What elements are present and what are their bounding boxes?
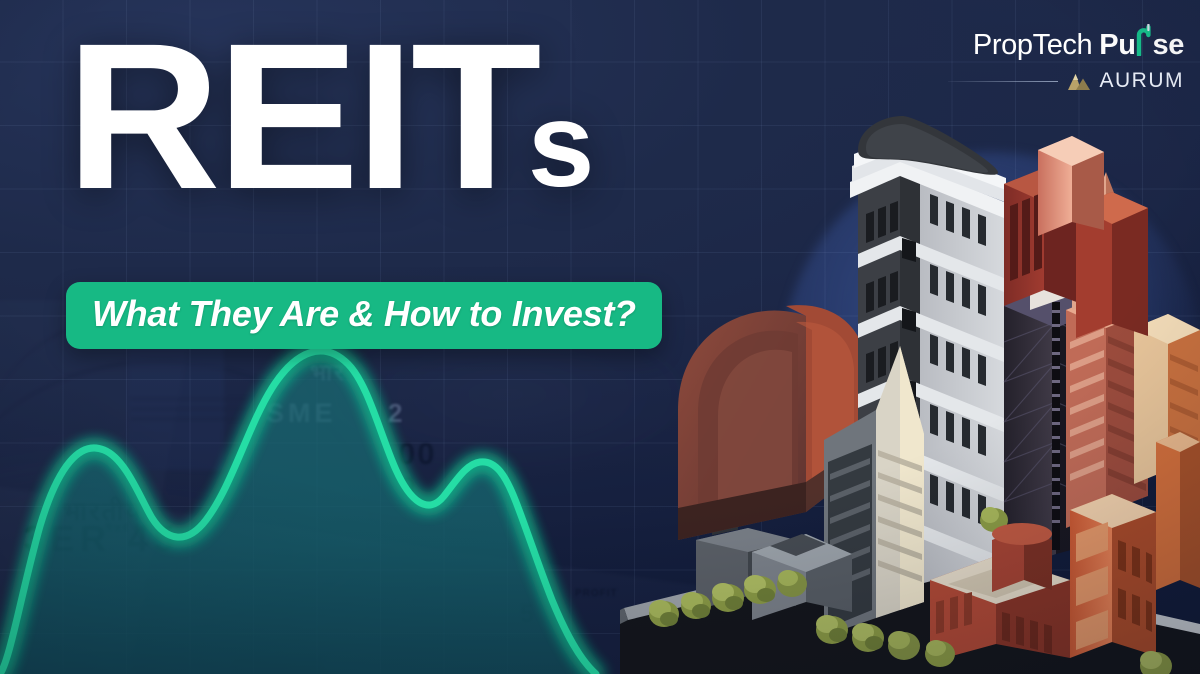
logo-prop: Prop (973, 29, 1033, 62)
logo-se: se (1153, 29, 1184, 62)
logo-subbrand-row: AURUM (948, 69, 1184, 93)
mountain-icon (1066, 72, 1092, 91)
pulse-line-icon (1136, 24, 1153, 54)
logo-wordmark: Prop Tech Pu se (948, 24, 1184, 62)
orange-slab-far-right (1156, 432, 1200, 590)
orange-front-tower (1070, 494, 1156, 658)
salmon-tower-right (1038, 136, 1104, 236)
logo-tech: Tech (1033, 29, 1093, 62)
banner-canvas: भारतीय रिज़र्व बैंक 3ER 45 SME भार 2 00 … (0, 0, 1200, 674)
chart-area-fill (0, 351, 596, 674)
page-title: REIT s (66, 36, 593, 198)
isometric-city-illustration (600, 110, 1200, 674)
logo-divider (948, 81, 1058, 82)
brand-logo[interactable]: Prop Tech Pu se AURUM (948, 24, 1184, 93)
logo-pu: Pu (1099, 29, 1135, 62)
headline-main: REIT (66, 36, 538, 198)
subtitle-pill: What They Are & How to Invest? (66, 282, 662, 349)
subtitle-text: What They Are & How to Invest? (92, 293, 636, 335)
market-trend-chart (0, 330, 700, 674)
logo-subbrand-text: AURUM (1100, 69, 1185, 93)
